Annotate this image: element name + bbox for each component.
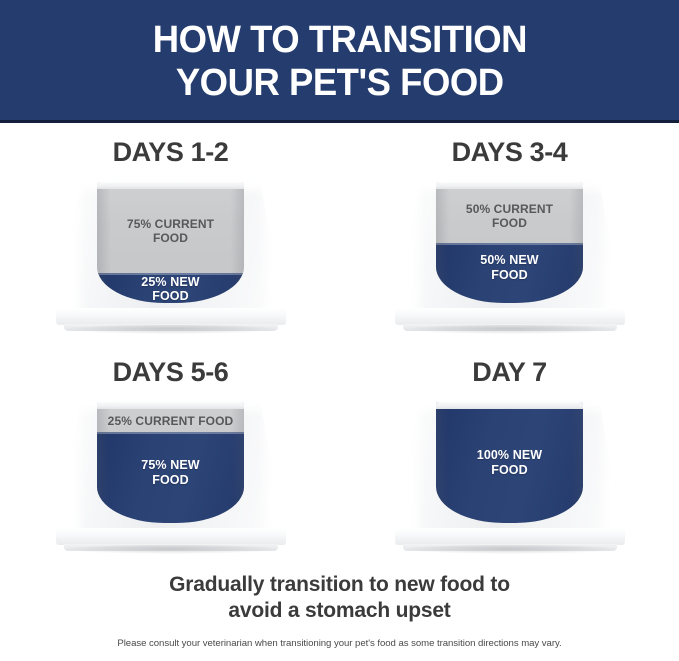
bowl-labels: 75% CURRENT FOOD 25% NEW FOOD: [97, 182, 243, 303]
bowl-base: [395, 308, 625, 325]
new-food-label-line-2: FOOD: [436, 463, 582, 478]
page-title-line-2: YOUR PET'S FOOD: [176, 62, 504, 105]
new-food-label-line-1: 100% NEW: [436, 448, 582, 463]
step-day-title: DAY 7: [340, 357, 679, 388]
transition-step-card: DAYS 1-2 75% CURRENT FOOD 25% NEW FOOD: [1, 127, 340, 347]
transition-step-card: DAYS 3-4 50% CURRENT FOOD 50% NEW FOOD: [340, 127, 679, 347]
new-food-label-line-1: 75% NEW: [97, 458, 243, 473]
current-food-label: 75% CURRENT FOOD: [97, 217, 243, 245]
pet-food-bowl: 25% CURRENT FOOD 75% NEW FOOD: [58, 399, 284, 551]
current-food-label-line-1: 25% CURRENT FOOD: [97, 414, 243, 428]
current-food-label: 50% CURRENT FOOD: [436, 202, 582, 230]
transition-step-card: DAY 7 100% NEW FOOD: [340, 347, 679, 567]
new-food-label-line-1: 50% NEW: [436, 253, 582, 268]
bowl-base: [395, 528, 625, 545]
current-food-label-line-2: FOOD: [97, 231, 243, 245]
new-food-label-line-2: FOOD: [97, 473, 243, 488]
pet-food-bowl: 75% CURRENT FOOD 25% NEW FOOD: [58, 179, 284, 331]
bowl-cavity: 50% CURRENT FOOD 50% NEW FOOD: [436, 182, 582, 303]
disclaimer-text: Please consult your veterinarian when tr…: [0, 637, 679, 650]
tagline-line-1: Gradually transition to new food to: [0, 572, 679, 598]
bowl-drop-shadow: [401, 325, 619, 334]
bowl-labels: 25% CURRENT FOOD 75% NEW FOOD: [97, 402, 243, 523]
bowl-drop-shadow: [62, 545, 280, 554]
new-food-label-line-1: 25% NEW: [97, 275, 243, 290]
step-day-title: DAYS 5-6: [1, 357, 340, 388]
transition-steps-grid: DAYS 1-2 75% CURRENT FOOD 25% NEW FOOD: [0, 127, 679, 567]
new-food-label: 25% NEW FOOD: [97, 275, 243, 303]
new-food-label: 75% NEW FOOD: [97, 458, 243, 487]
bowl-drop-shadow: [401, 545, 619, 554]
bowl-cavity: 25% CURRENT FOOD 75% NEW FOOD: [97, 402, 243, 523]
pet-food-bowl: 100% NEW FOOD: [397, 399, 623, 551]
bowl-base: [56, 528, 286, 545]
new-food-label: 50% NEW FOOD: [436, 253, 582, 282]
current-food-label-line-1: 75% CURRENT: [97, 217, 243, 231]
current-food-label: 25% CURRENT FOOD: [97, 414, 243, 428]
page-title-line-1: HOW TO TRANSITION: [152, 19, 526, 62]
new-food-label-line-2: FOOD: [436, 268, 582, 283]
tagline: Gradually transition to new food to avoi…: [0, 572, 679, 624]
new-food-label-line-2: FOOD: [97, 289, 243, 303]
bowl-drop-shadow: [62, 325, 280, 334]
bowl-cavity: 75% CURRENT FOOD 25% NEW FOOD: [97, 182, 243, 303]
step-day-title: DAYS 1-2: [1, 137, 340, 168]
current-food-label-line-1: 50% CURRENT: [436, 202, 582, 216]
tagline-line-2: avoid a stomach upset: [0, 598, 679, 624]
bowl-cavity: 100% NEW FOOD: [436, 402, 582, 523]
bowl-labels: 100% NEW FOOD: [436, 402, 582, 523]
bowl-labels: 50% CURRENT FOOD 50% NEW FOOD: [436, 182, 582, 303]
bowl-base: [56, 308, 286, 325]
transition-step-card: DAYS 5-6 25% CURRENT FOOD 75% NEW FOOD: [1, 347, 340, 567]
step-day-title: DAYS 3-4: [340, 137, 679, 168]
new-food-label: 100% NEW FOOD: [436, 448, 582, 477]
pet-food-bowl: 50% CURRENT FOOD 50% NEW FOOD: [397, 179, 623, 331]
header-banner: HOW TO TRANSITION YOUR PET'S FOOD: [0, 0, 679, 123]
current-food-label-line-2: FOOD: [436, 216, 582, 230]
